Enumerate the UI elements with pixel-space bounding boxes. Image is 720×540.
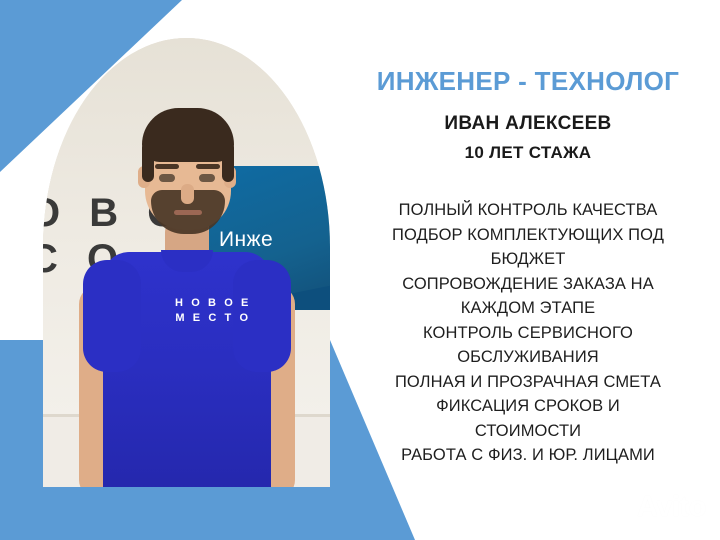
mouth (174, 210, 202, 215)
avito-watermark: Avito (607, 492, 706, 523)
service-line: БЮДЖЕТ (355, 247, 701, 272)
text-column: ИНЖЕНЕР - ТЕХНОЛОГ ИВАН АЛЕКСЕЕВ 10 ЛЕТ … (355, 0, 701, 540)
service-line: КОНТРОЛЬ СЕРВИСНОГО (355, 321, 701, 346)
service-line: СТОИМОСТИ (355, 419, 701, 444)
left-eyebrow (155, 164, 179, 169)
hair-right-side (222, 142, 234, 182)
avito-wordmark: Avito (637, 493, 706, 522)
experience-line: 10 ЛЕТ СТАЖА (355, 143, 701, 163)
service-list: ПОЛНЫЙ КОНТРОЛЬ КАЧЕСТВА ПОДБОР КОМПЛЕКТ… (355, 198, 701, 468)
service-line: ОБСЛУЖИВАНИЯ (355, 345, 701, 370)
service-line: ПОДБОР КОМПЛЕКТУЮЩИХ ПОД (355, 223, 701, 248)
avito-dots-icon (607, 492, 633, 523)
service-line: КАЖДОМ ЭТАПЕ (355, 296, 701, 321)
tshirt-logo-line-1: Н О В О Е (175, 296, 251, 311)
service-line: ПОЛНЫЙ КОНТРОЛЬ КАЧЕСТВА (355, 198, 701, 223)
hair-left-side (142, 142, 154, 182)
hair (142, 108, 234, 162)
job-title-heading: ИНЖЕНЕР - ТЕХНОЛОГ (355, 66, 701, 96)
left-eye (159, 174, 175, 182)
person-photo: О В О С О Инже Н О В О Е М Е С Т О (43, 38, 330, 487)
right-eye (199, 174, 215, 182)
service-line: ПОЛНАЯ И ПРОЗРАЧНАЯ СМЕТА (355, 370, 701, 395)
tshirt-logo-line-2: М Е С Т О (175, 311, 251, 326)
right-eyebrow (196, 164, 220, 169)
poster-canvas: О В О С О Инже Н О В О Е М Е С Т О (0, 0, 720, 540)
service-line: ФИКСАЦИЯ СРОКОВ И (355, 394, 701, 419)
person-name: ИВАН АЛЕКСЕЕВ (355, 113, 701, 135)
left-sleeve (83, 260, 141, 372)
nose (181, 184, 194, 204)
service-line: СОПРОВОЖДЕНИЕ ЗАКАЗА НА (355, 272, 701, 297)
tshirt-logo: Н О В О Е М Е С Т О (175, 296, 251, 326)
service-line: РАБОТА С ФИЗ. И ЮР. ЛИЦАМИ (355, 443, 701, 468)
person-figure: Н О В О Е М Е С Т О (43, 38, 330, 487)
